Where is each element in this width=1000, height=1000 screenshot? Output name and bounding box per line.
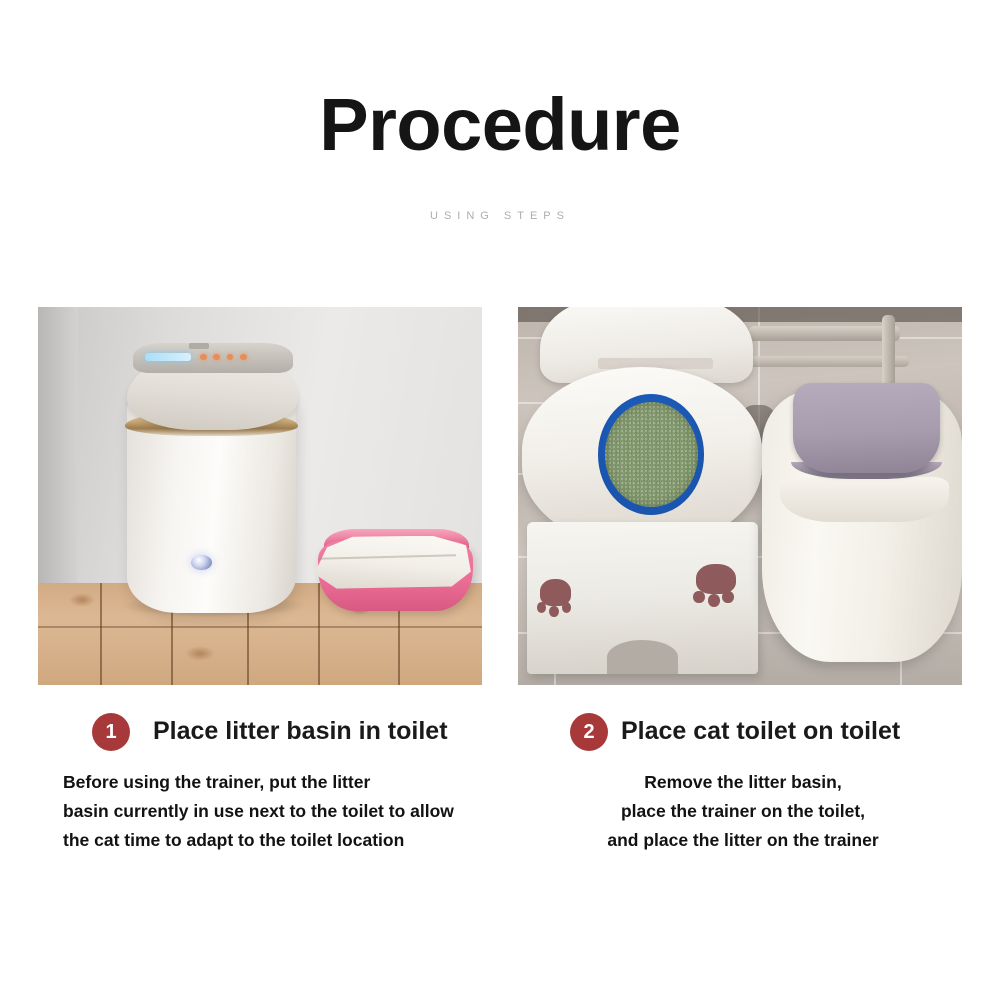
page-title: Procedure	[0, 88, 1000, 162]
green-cat-litter	[605, 402, 698, 508]
wood-knot	[185, 646, 215, 661]
toilet-led-indicator	[145, 353, 192, 361]
paw-print-icon	[708, 594, 720, 607]
step-1-description: Before using the trainer, put the litter…	[38, 768, 508, 855]
floor-seam	[38, 626, 482, 628]
step-1-description-line: Before using the trainer, put the litter	[63, 768, 508, 797]
step-1-number-badge: 1	[92, 713, 130, 751]
infographic-page: Procedure USING STEPS	[0, 0, 1000, 1000]
step-2-description-line: and place the litter on the trainer	[518, 826, 968, 855]
step-2: 2 Place cat toilet on toilet Remove the …	[518, 700, 968, 855]
page-subtitle: USING STEPS	[0, 210, 1000, 222]
step-stool-notch	[607, 640, 678, 674]
step-2-heading: 2 Place cat toilet on toilet	[518, 700, 968, 756]
step-2-description-line: Remove the litter basin,	[518, 768, 968, 797]
step-2-title: Place cat toilet on toilet	[621, 712, 900, 750]
paw-print-icon	[693, 591, 705, 604]
step-1-heading: 1 Place litter basin in toilet	[38, 700, 508, 756]
step-1: 1 Place litter basin in toilet Before us…	[38, 700, 508, 855]
step-1-description-line: basin currently in use next to the toile…	[63, 797, 508, 826]
paw-print-icon	[549, 606, 559, 617]
potty-chair-seat	[780, 477, 949, 522]
paw-print-icon	[696, 564, 736, 594]
toilet-led-dot	[240, 354, 247, 360]
step-1-description-line: the cat time to adapt to the toilet loca…	[63, 826, 508, 855]
step-2-number-badge: 2	[570, 713, 608, 751]
step-2-description-line: place the trainer on the toilet,	[518, 797, 968, 826]
potty-chair-lid	[793, 383, 940, 474]
toilet-panel-button	[189, 343, 209, 348]
step-2-photo	[518, 307, 962, 685]
toilet-sensor-light	[191, 555, 211, 571]
step-1-photo	[38, 307, 482, 685]
step-1-title: Place litter basin in toilet	[153, 712, 448, 750]
paw-print-icon	[722, 591, 734, 604]
wall-corner-shadow	[38, 307, 78, 587]
toilet-led-dot	[200, 354, 207, 360]
step-2-description: Remove the litter basin, place the train…	[518, 768, 968, 855]
wall-pipe-horizontal	[749, 326, 900, 341]
